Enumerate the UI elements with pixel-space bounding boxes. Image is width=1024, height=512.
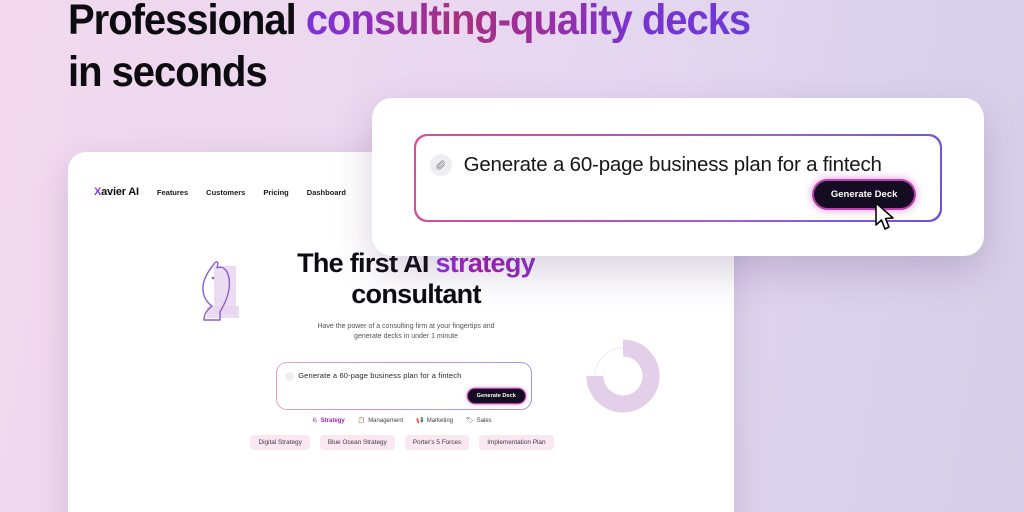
chip-porters-5-forces[interactable]: Porter's 5 Forces — [405, 435, 469, 450]
mockup-prompt-inner: Generate a 60-page business plan for a f… — [277, 363, 531, 409]
subtitle-line2: generate decks in under 1 minute — [354, 333, 458, 340]
nav-item-pricing[interactable]: Pricing — [263, 188, 288, 197]
mockup-hero: The first AI strategy consultant Have th… — [68, 248, 734, 342]
category-label-strategy: Strategy — [321, 418, 345, 424]
generate-deck-button[interactable]: Generate Deck — [814, 181, 915, 208]
category-label-marketing: Marketing — [427, 418, 453, 424]
mockup-generate-deck-button[interactable]: Generate Deck — [468, 389, 525, 403]
brand-logo[interactable]: Xavier AI — [94, 186, 139, 198]
category-tab-management[interactable]: 📋Management — [358, 418, 404, 424]
prompt-input-inner: Generate a 60-page business plan for a f… — [416, 136, 941, 221]
category-tab-strategy[interactable]: ♘Strategy — [312, 418, 344, 424]
headline-line2: in seconds — [68, 48, 267, 96]
category-tab-marketing[interactable]: 📢Marketing — [416, 418, 453, 424]
floating-prompt-card: Generate a 60-page business plan for a f… — [372, 98, 984, 256]
paperclip-icon[interactable] — [285, 372, 294, 381]
mockup-hero-title: The first AI strategy consultant — [68, 248, 734, 310]
mockup-prompt-box[interactable]: Generate a 60-page business plan for a f… — [276, 362, 532, 410]
category-label-management: Management — [368, 418, 403, 424]
nav-item-customers[interactable]: Customers — [206, 188, 245, 197]
nav-item-dashboard[interactable]: Dashboard — [307, 188, 346, 197]
headline-plain: Professional — [68, 0, 306, 44]
donut-ring-icon — [584, 337, 662, 415]
nav-item-features[interactable]: Features — [157, 188, 188, 197]
category-tab-sales[interactable]: 🏷Sales — [466, 418, 492, 424]
headline-accent: consulting-quality decks — [306, 0, 750, 44]
category-label-sales: Sales — [477, 418, 492, 424]
hero-title-part2: consultant — [351, 279, 481, 309]
prompt-input-value[interactable]: Generate a 60-page business plan for a f… — [464, 153, 882, 177]
suggestion-chips: Digital Strategy Blue Ocean Strategy Por… — [68, 435, 734, 450]
chip-blue-ocean-strategy[interactable]: Blue Ocean Strategy — [320, 435, 395, 450]
clipboard-icon: 📋 — [358, 418, 365, 424]
paperclip-icon[interactable] — [430, 154, 452, 176]
prompt-input-container[interactable]: Generate a 60-page business plan for a f… — [414, 134, 942, 222]
category-tabs: ♘Strategy 📋Management 📢Marketing 🏷Sales — [68, 418, 734, 424]
mockup-prompt-input[interactable]: Generate a 60-page business plan for a f… — [298, 371, 461, 380]
mockup-navbar: Xavier AI Features Customers Pricing Das… — [94, 186, 346, 198]
chip-implementation-plan[interactable]: Implementation Plan — [479, 435, 553, 450]
logo-name: avier AI — [101, 186, 139, 198]
chess-knight-icon — [190, 254, 244, 328]
chess-knight-icon: ♘ — [312, 418, 317, 424]
megaphone-icon: 📢 — [416, 418, 423, 424]
tag-icon: 🏷 — [466, 418, 474, 424]
chip-digital-strategy[interactable]: Digital Strategy — [250, 435, 309, 450]
subtitle-line1: Have the power of a consulting firm at y… — [317, 323, 494, 330]
page-headline: Professional consulting-quality decks in… — [68, 0, 868, 98]
